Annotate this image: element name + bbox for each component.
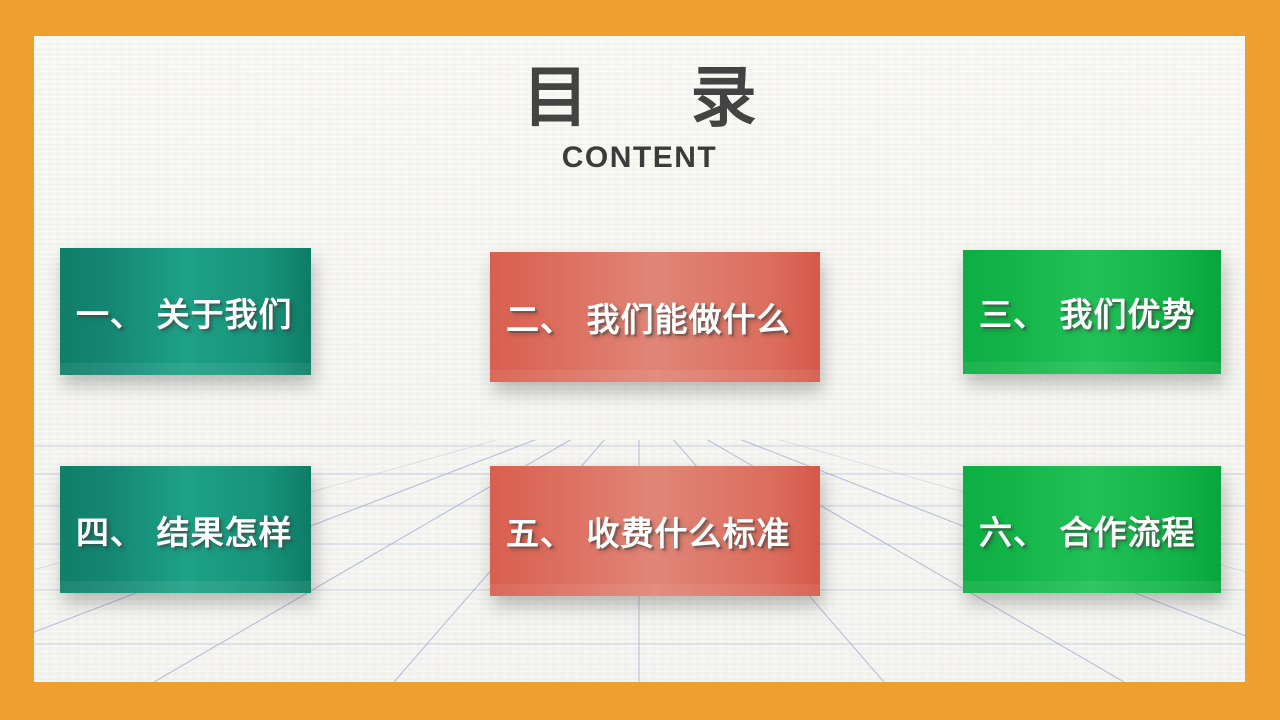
agenda-card-1[interactable]: 一、 关于我们 (60, 248, 311, 375)
agenda-card-3-label: 三、 我们优势 (979, 288, 1221, 336)
agenda-card-2[interactable]: 二、 我们能做什么 (490, 252, 820, 382)
agenda-card-6-label: 六、 合作流程 (979, 506, 1221, 554)
agenda-card-grid: 一、 关于我们 二、 我们能做什么 三、 我们优势 四、 结果怎样 五、 收费什… (34, 36, 1245, 682)
slide-canvas: 目 录 CONTENT 一、 关于我们 二、 我们能做什么 三、 我们优势 四、… (0, 0, 1280, 720)
agenda-card-1-label: 一、 关于我们 (76, 288, 311, 336)
agenda-card-4-label: 四、 结果怎样 (76, 506, 311, 554)
agenda-card-3[interactable]: 三、 我们优势 (963, 250, 1221, 374)
slide-content-panel: 目 录 CONTENT 一、 关于我们 二、 我们能做什么 三、 我们优势 四、… (34, 36, 1245, 682)
agenda-card-2-label: 二、 我们能做什么 (506, 293, 820, 341)
agenda-card-5[interactable]: 五、 收费什么标准 (490, 466, 820, 596)
agenda-card-6[interactable]: 六、 合作流程 (963, 466, 1221, 593)
agenda-card-5-label: 五、 收费什么标准 (506, 507, 820, 555)
agenda-card-4[interactable]: 四、 结果怎样 (60, 466, 311, 593)
